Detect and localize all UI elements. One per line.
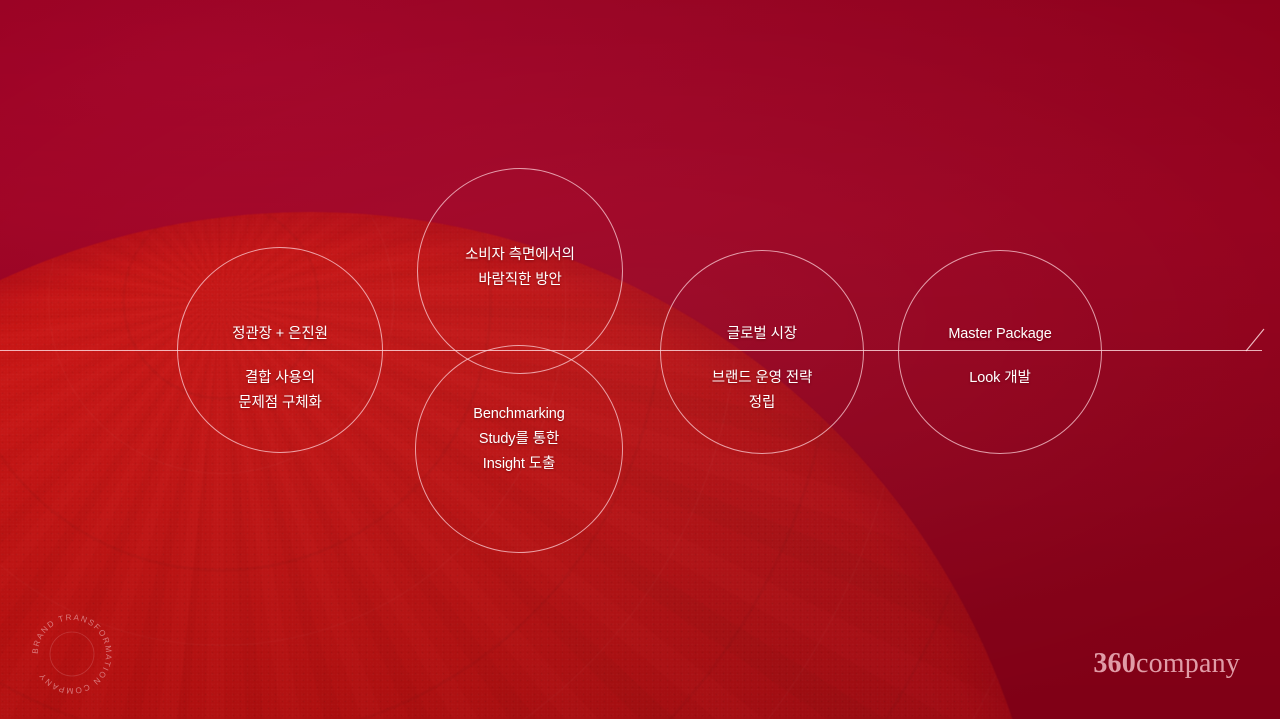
node-circle-1 <box>177 247 383 453</box>
node-5-below-label: Look 개발 <box>880 366 1120 391</box>
node-2-above-label: 소비자 측면에서의 바람직한 방안 <box>400 243 640 293</box>
node-1-above-label: 정관장 + 은진원 <box>160 322 400 347</box>
node-1-below-label: 결합 사용의 문제점 구체화 <box>160 366 400 416</box>
node-4-below-label: 브랜드 운영 전략 정립 <box>642 366 882 416</box>
node-circle-4 <box>660 250 864 454</box>
node-4-above-label: 글로벌 시장 <box>642 322 882 347</box>
stamp-text: BRAND TRANSFORMATION COMPANY <box>31 613 113 695</box>
node-3-below-label: Benchmarking Study를 통한 Insight 도출 <box>399 402 639 477</box>
brand-transformation-stamp: BRAND TRANSFORMATION COMPANY <box>22 604 122 704</box>
company-wordmark: 360company <box>1093 648 1240 680</box>
node-circle-5 <box>898 250 1102 454</box>
wordmark-name: company <box>1136 648 1240 679</box>
presentation-slide: 정관장 + 은진원 결합 사용의 문제점 구체화 소비자 측면에서의 바람직한 … <box>0 0 1280 719</box>
node-5-above-label: Master Package <box>880 322 1120 347</box>
wordmark-number: 360 <box>1093 648 1136 679</box>
